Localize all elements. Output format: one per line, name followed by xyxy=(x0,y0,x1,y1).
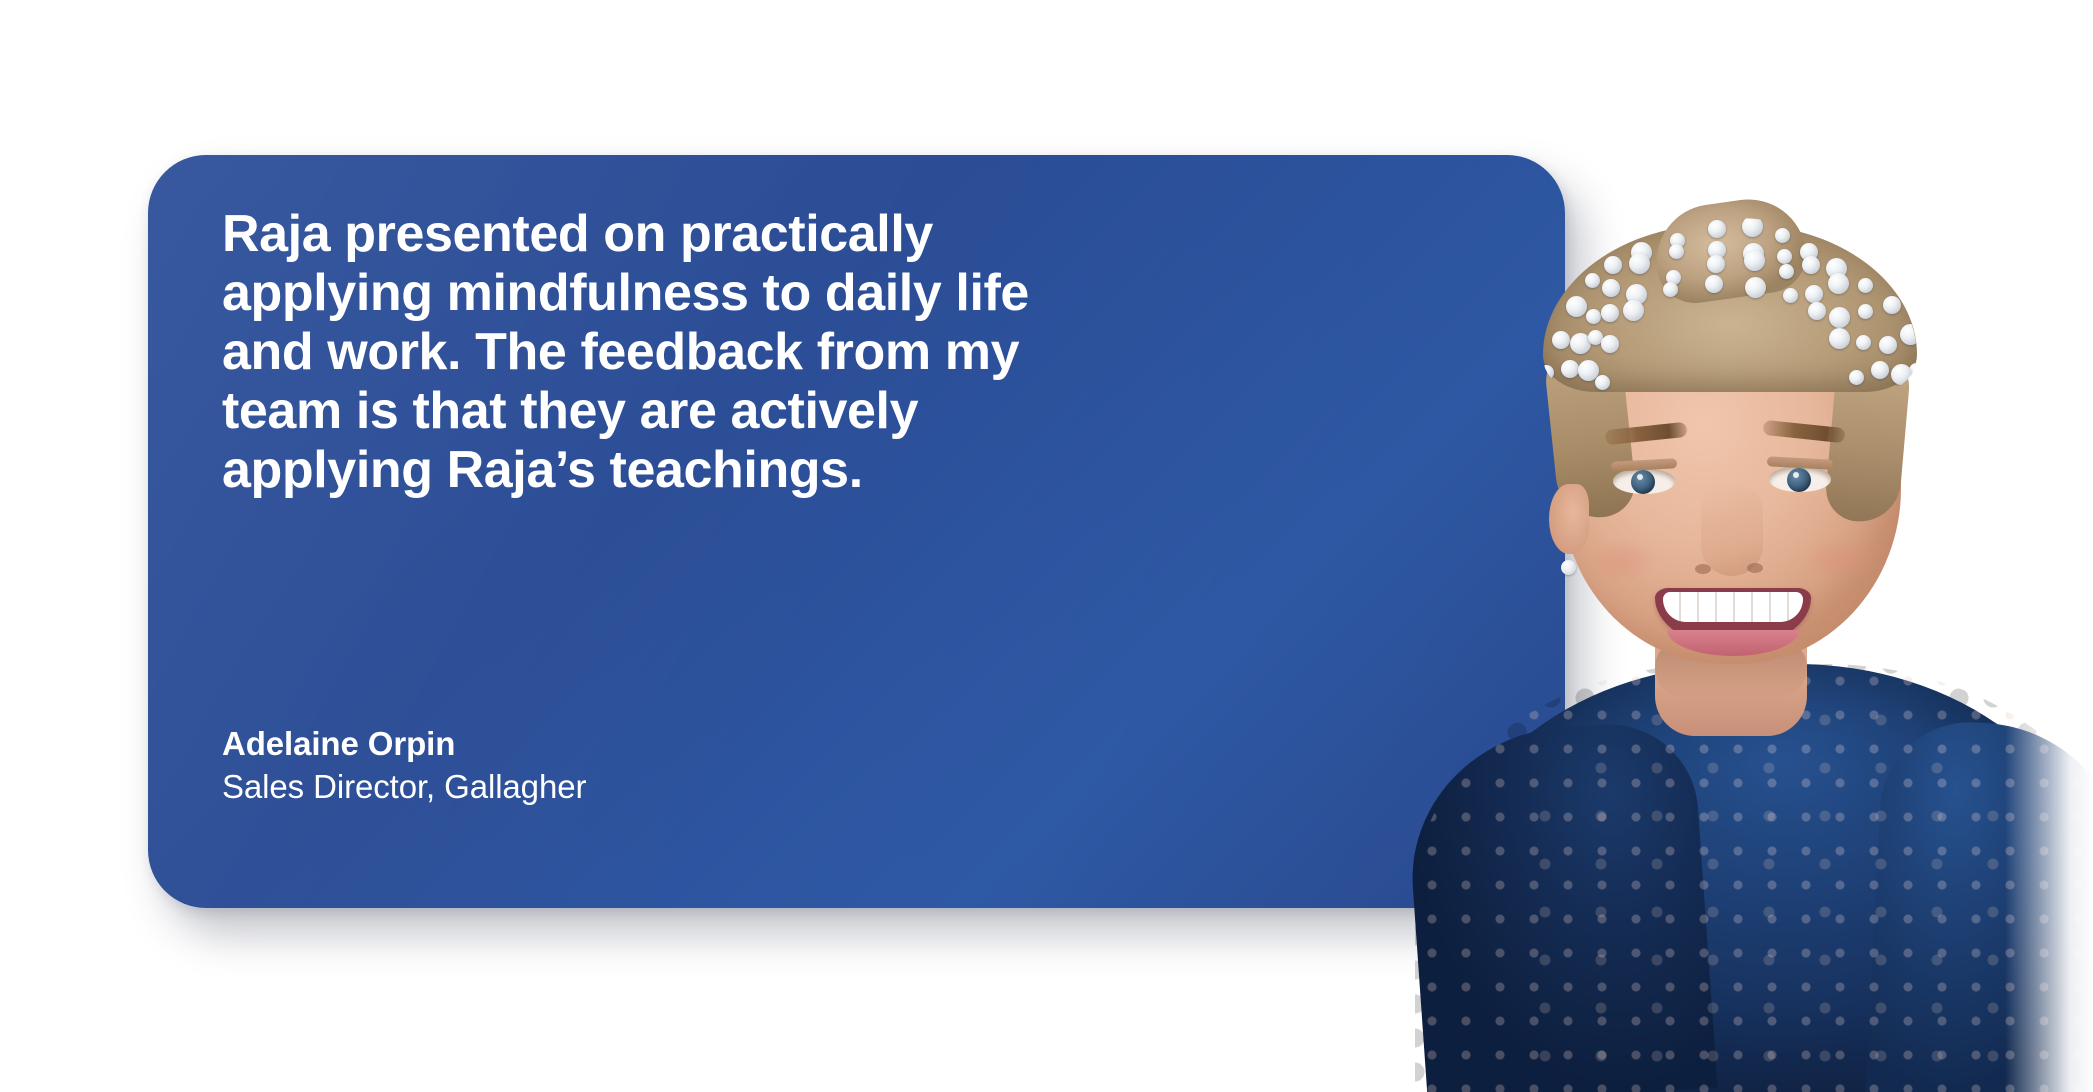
pearl-bead xyxy=(1601,335,1619,353)
pearl-bead xyxy=(1604,256,1622,274)
pearl-bead xyxy=(1629,253,1650,274)
attribution-role: Sales Director, Gallagher xyxy=(222,765,586,809)
pearl-bead xyxy=(1891,364,1912,385)
quote-card: Raja presented on practically applying m… xyxy=(148,155,1565,908)
pearl-bead xyxy=(1829,328,1850,349)
pearl-bead xyxy=(1849,370,1864,385)
pearl-bead xyxy=(1707,255,1725,273)
pearl-bead xyxy=(1775,228,1790,243)
nostril-right xyxy=(1747,563,1763,573)
pearl-bead xyxy=(1561,360,1579,378)
pearl-bead xyxy=(1595,375,1610,390)
pearl-bead xyxy=(1829,307,1850,328)
pearl-bead xyxy=(1883,296,1901,314)
nostril-left xyxy=(1695,564,1711,574)
pearl-bead xyxy=(1543,365,1554,380)
pearl-bead xyxy=(1856,335,1871,350)
teeth xyxy=(1663,592,1803,622)
pearl-bead xyxy=(1744,250,1765,271)
testimonial-canvas: Raja presented on practically applying m… xyxy=(0,0,2093,1092)
iris-right xyxy=(1787,468,1811,492)
pearl-bead xyxy=(1623,300,1644,321)
pearl-bead xyxy=(1879,336,1897,354)
pearl-bead xyxy=(1663,282,1678,297)
pearl-bead xyxy=(1552,331,1570,349)
pearl-bead xyxy=(1585,273,1600,288)
pearl-bead xyxy=(1828,273,1849,294)
pearl-bead xyxy=(1745,277,1766,298)
pearl-bead xyxy=(1742,218,1763,237)
pearl-bead xyxy=(1871,361,1889,379)
pearl-bead xyxy=(1808,302,1826,320)
ear-left xyxy=(1549,484,1589,554)
headband-pearls xyxy=(1543,218,1917,396)
cheek-right xyxy=(1803,536,1873,582)
portrait-clip xyxy=(1355,168,2093,1092)
pearl-bead xyxy=(1777,249,1792,264)
cheek-left xyxy=(1587,538,1657,584)
attribution-block: Adelaine Orpin Sales Director, Gallagher xyxy=(222,723,586,809)
pearl-bead xyxy=(1705,275,1723,293)
eye-right xyxy=(1769,466,1831,492)
quote-text: Raja presented on practically applying m… xyxy=(222,205,1082,500)
pearl-bead xyxy=(1708,220,1726,238)
pearl-bead xyxy=(1586,309,1601,324)
pearl-bead xyxy=(1802,256,1820,274)
pearl-bead xyxy=(1900,324,1917,345)
earring-left xyxy=(1561,560,1576,575)
pearl-bead xyxy=(1858,278,1873,293)
pearl-bead xyxy=(1566,296,1587,317)
lace-eyelet-texture-secondary xyxy=(1505,688,2025,1088)
pearl-bead xyxy=(1669,244,1684,259)
pearl-bead xyxy=(1601,304,1619,322)
pearl-bead xyxy=(1858,304,1873,319)
pearl-bead xyxy=(1602,279,1620,297)
portrait-photo xyxy=(1355,168,2093,1092)
pearl-bead xyxy=(1779,264,1794,279)
pearl-bead xyxy=(1805,285,1823,303)
pearl-bead xyxy=(1783,288,1798,303)
iris-left xyxy=(1631,470,1655,494)
attribution-name: Adelaine Orpin xyxy=(222,723,586,765)
eye-left xyxy=(1613,468,1675,494)
